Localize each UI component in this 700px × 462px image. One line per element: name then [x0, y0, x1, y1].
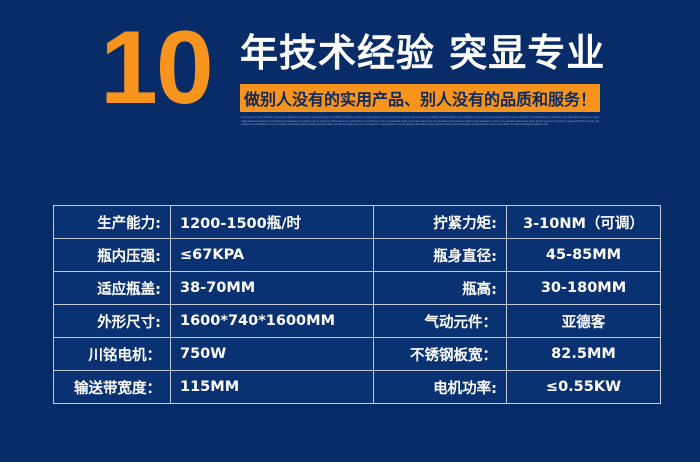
spec-table-body: 生产能力:1200-1500瓶/时拧紧力矩:3-10NM（可调）瓶内压强:≤67…	[54, 206, 661, 404]
spec-label-right: 瓶高:	[374, 272, 507, 305]
poster-header: 10 年技术经验 突显专业 做别人没有的实用产品、别人没有的品质和服务！ Lor…	[0, 0, 700, 150]
slogan-banner: 做别人没有的实用产品、别人没有的品质和服务！	[240, 84, 600, 112]
table-row: 瓶内压强:≤67KPA瓶身直径:45-85MM	[54, 239, 661, 272]
spec-label-left: 输送带宽度：	[54, 371, 171, 404]
spec-label-left: 瓶内压强:	[54, 239, 171, 272]
spec-value-right: ≤0.55KW	[507, 371, 661, 404]
spec-value-left: 115MM	[171, 371, 374, 404]
spec-value-right: 3-10NM（可调）	[507, 206, 661, 239]
spec-label-left: 适应瓶盖:	[54, 272, 171, 305]
spec-label-right: 电机功率:	[374, 371, 507, 404]
fineprint-text: Lorem ipsum dolor sit amet consectetur a…	[241, 116, 599, 127]
spec-label-left: 外形尺寸:	[54, 305, 171, 338]
specification-table: 生产能力:1200-1500瓶/时拧紧力矩:3-10NM（可调）瓶内压强:≤67…	[53, 205, 661, 404]
table-row: 适应瓶盖:38-70MM瓶高:30-180MM	[54, 272, 661, 305]
spec-label-left: 生产能力:	[54, 206, 171, 239]
slogan-text: 做别人没有的实用产品、别人没有的品质和服务！	[244, 86, 596, 110]
spec-value-left: 38-70MM	[171, 272, 374, 305]
table-row: 输送带宽度：115MM电机功率:≤0.55KW	[54, 371, 661, 404]
spec-value-right: 82.5MM	[507, 338, 661, 371]
spec-label-right: 瓶身直径:	[374, 239, 507, 272]
spec-value-left: ≤67KPA	[171, 239, 374, 272]
spec-label-right: 气动元件：	[374, 305, 507, 338]
product-spec-poster: 10 年技术经验 突显专业 做别人没有的实用产品、别人没有的品质和服务！ Lor…	[0, 0, 700, 462]
spec-value-left: 1600*740*1600MM	[171, 305, 374, 338]
spec-label-right: 不锈钢板宽：	[374, 338, 507, 371]
spec-value-left: 1200-1500瓶/时	[171, 206, 374, 239]
spec-value-right: 30-180MM	[507, 272, 661, 305]
spec-label-right: 拧紧力矩:	[374, 206, 507, 239]
spec-label-left: 川铭电机：	[54, 338, 171, 371]
spec-value-left: 750W	[171, 338, 374, 371]
headline-text: 年技术经验 突显专业	[240, 31, 605, 75]
table-row: 生产能力:1200-1500瓶/时拧紧力矩:3-10NM（可调）	[54, 206, 661, 239]
spec-value-right: 45-85MM	[507, 239, 661, 272]
table-row: 外形尺寸:1600*740*1600MM气动元件：亚德客	[54, 305, 661, 338]
spec-value-right: 亚德客	[507, 305, 661, 338]
table-row: 川铭电机：750W不锈钢板宽：82.5MM	[54, 338, 661, 371]
years-number: 10	[100, 16, 212, 120]
